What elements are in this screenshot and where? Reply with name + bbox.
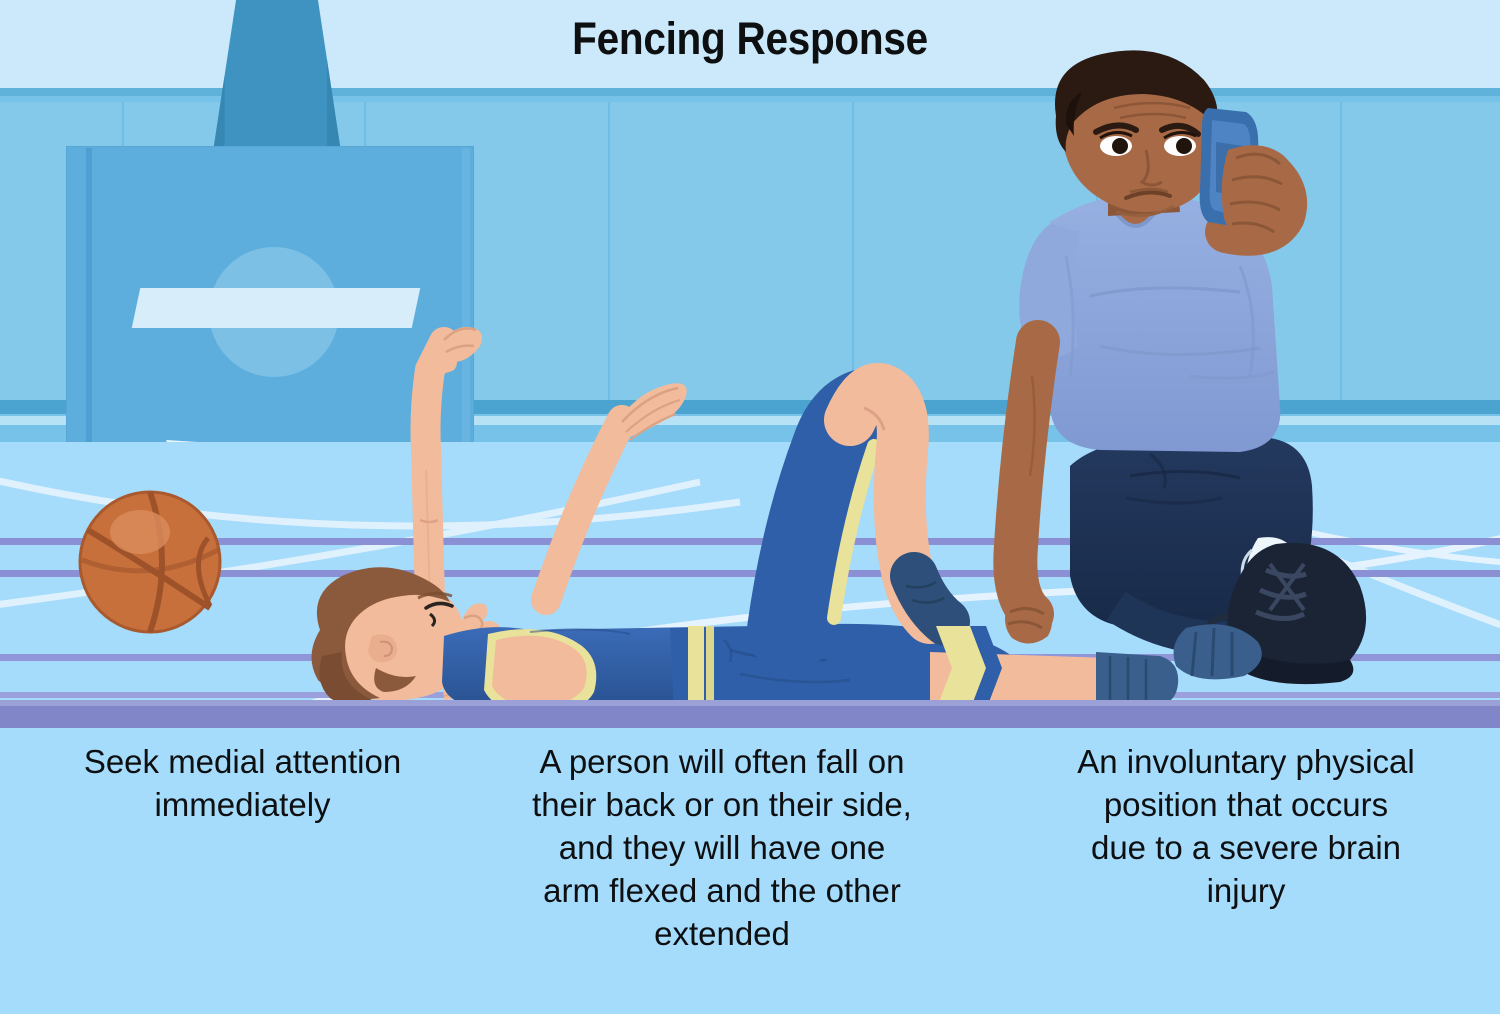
- court-sideline: [0, 706, 1500, 728]
- basketball: [78, 490, 228, 640]
- flexed-arm-raised: [420, 327, 482, 600]
- helper-phone-hand: [1222, 145, 1298, 242]
- caption-area: Seek medial attention immediately A pers…: [0, 728, 1500, 1014]
- fencing-response-infographic: Fencing Response: [0, 0, 1500, 1014]
- athlete-bent-leg: [790, 389, 946, 630]
- caption-seek-medical-attention: Seek medial attention immediately: [10, 740, 475, 826]
- caption-definition: An involuntary physical position that oc…: [1000, 740, 1492, 912]
- helper-on-phone: [940, 46, 1400, 706]
- extended-arm-raised: [546, 383, 687, 600]
- caption-fall-posture: A person will often fall on their back o…: [472, 740, 972, 955]
- helper-supporting-arm: [1005, 342, 1052, 644]
